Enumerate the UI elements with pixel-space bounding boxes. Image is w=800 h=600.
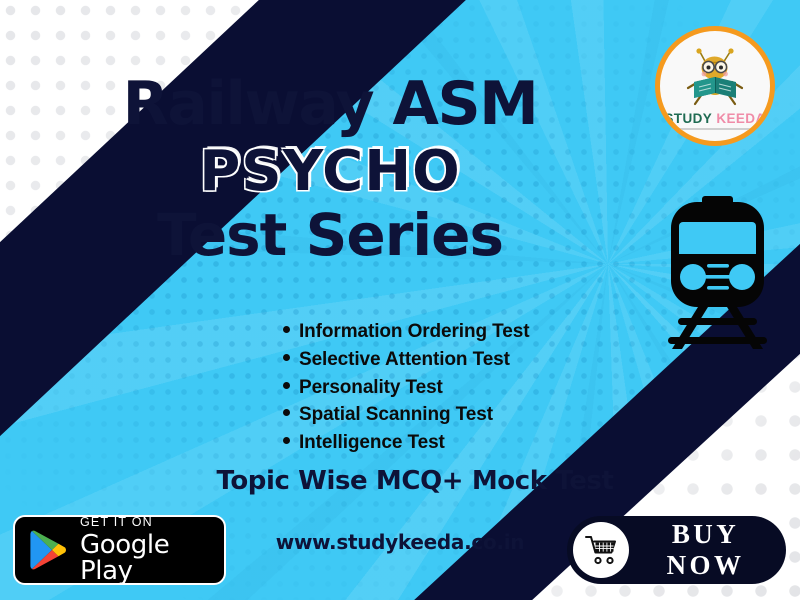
headline-line-1: Railway ASM — [0, 74, 660, 135]
logo-underline — [672, 128, 758, 130]
feature-list: Information Ordering Test Selective Atte… — [283, 318, 529, 457]
study-keeda-logo: STUDY KEEDA — [655, 26, 775, 146]
list-item-label: Information Ordering Test — [299, 318, 529, 346]
headline-line-3: Test Series — [0, 205, 660, 266]
google-play-badge[interactable]: GET IT ON Google Play — [13, 515, 226, 585]
list-item: Personality Test — [283, 374, 529, 402]
list-item-label: Selective Attention Test — [299, 346, 510, 374]
headline-line-2: PSYCHO — [0, 141, 660, 203]
tagline-text: Topic Wise MCQ+ Mock Test — [0, 466, 800, 496]
google-play-icon — [29, 529, 67, 571]
buy-now-button[interactable]: BUY NOW — [567, 516, 786, 584]
buy-now-label: BUY NOW — [629, 519, 786, 581]
bullet-dot-icon — [283, 437, 290, 444]
bullet-dot-icon — [283, 326, 290, 333]
list-item: Spatial Scanning Test — [283, 401, 529, 429]
play-badge-top-label: GET IT ON — [80, 516, 224, 529]
play-badge-store-name: Google Play — [80, 532, 224, 584]
train-front-icon — [660, 196, 775, 351]
bullet-dot-icon — [283, 409, 290, 416]
promo-banner: STUDY KEEDA Railway ASM PSYCHO Test Seri… — [0, 0, 800, 600]
shopping-cart-icon — [585, 535, 618, 565]
list-item: Information Ordering Test — [283, 318, 529, 346]
play-badge-text: GET IT ON Google Play — [80, 516, 224, 584]
logo-text-keeda: KEEDA — [716, 111, 765, 126]
logo-wordmark: STUDY KEEDA — [664, 111, 765, 126]
headline-block: Railway ASM PSYCHO Test Series — [0, 74, 660, 266]
bullet-dot-icon — [283, 354, 290, 361]
list-item-label: Intelligence Test — [299, 429, 445, 457]
logo-text-study: STUDY — [664, 111, 712, 126]
list-item: Selective Attention Test — [283, 346, 529, 374]
list-item-label: Spatial Scanning Test — [299, 401, 493, 429]
bee-reading-book-icon — [678, 46, 752, 110]
list-item-label: Personality Test — [299, 374, 443, 402]
list-item: Intelligence Test — [283, 429, 529, 457]
cart-icon-circle — [573, 522, 629, 578]
bullet-dot-icon — [283, 382, 290, 389]
